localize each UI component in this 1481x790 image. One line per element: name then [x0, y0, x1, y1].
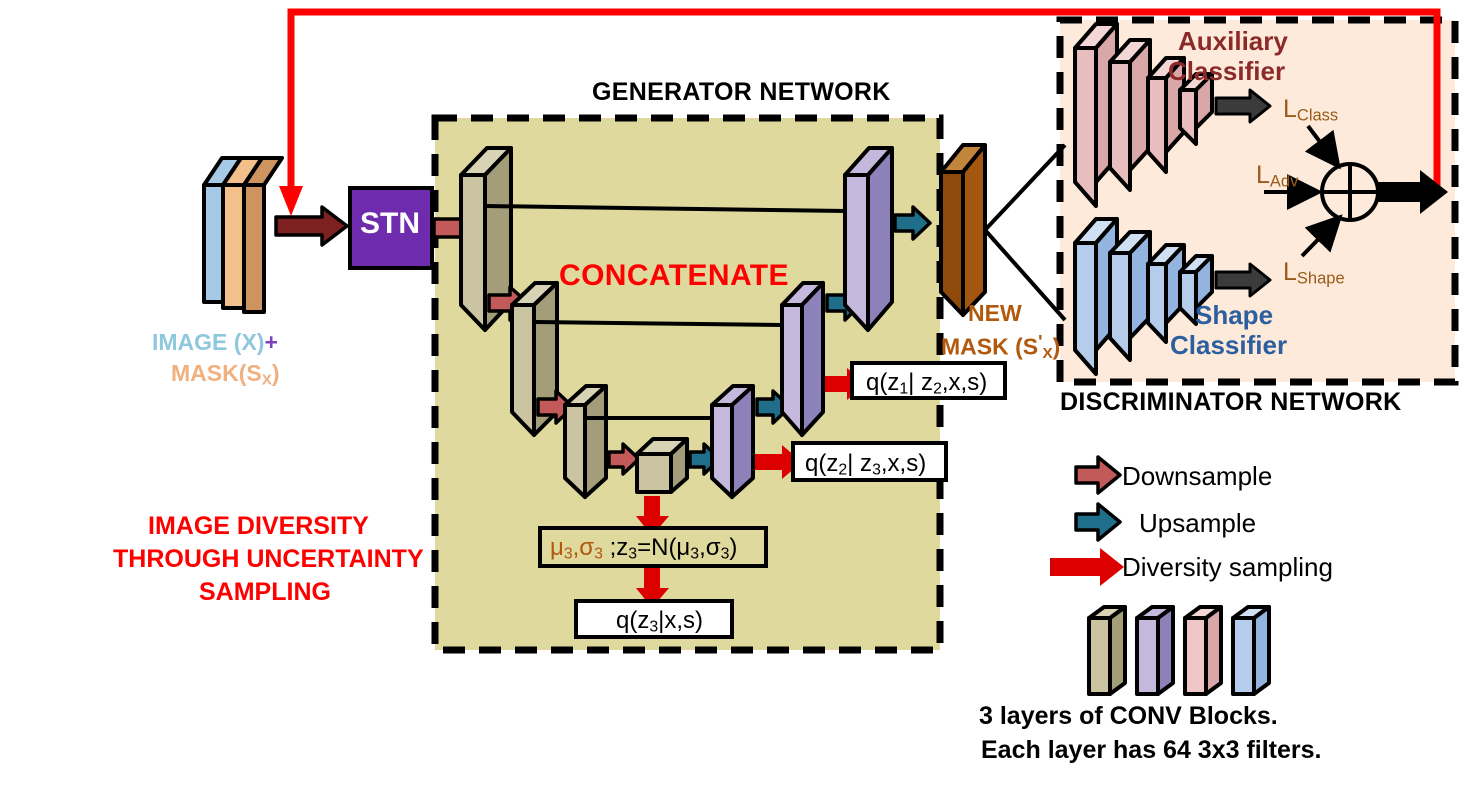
l-shape-main: L: [1283, 258, 1297, 286]
aux-classifier-title-line2: Classifier: [1168, 56, 1285, 87]
new-mask-block: [941, 145, 985, 315]
mask-label-sub: X: [262, 371, 272, 388]
diversity-note-line1: IMAGE DIVERSITY: [148, 512, 369, 541]
diagram-canvas: GENERATOR NETWORK DISCRIMINATOR NETWORK …: [0, 0, 1481, 790]
legend-upsample-arrow: [1076, 504, 1120, 540]
mu-comma: ,σ: [699, 534, 720, 561]
formula-qz3-text: q(z3|x,s): [616, 607, 703, 636]
l-shape-label: LShape: [1283, 258, 1345, 289]
mu-close: ): [729, 534, 737, 561]
mu-mid-sub: 3: [628, 545, 637, 562]
legend-downsample-arrow: [1076, 457, 1120, 493]
new-mask-line2: MASK (S'X): [941, 331, 1060, 362]
l-class-main: L: [1283, 95, 1297, 123]
qz3-tail: |x,s): [658, 607, 703, 634]
l-adv-sub: Adv: [1270, 173, 1298, 191]
input-caption-line1: IMAGE (X)+: [152, 329, 278, 356]
new-mask-line1: NEW: [968, 300, 1022, 327]
new-mask-sub: X: [1043, 345, 1053, 362]
legend-diversity-label: Diversity sampling: [1122, 552, 1333, 583]
qz2-sub1: 2: [838, 461, 847, 478]
encoder-block-3: [565, 386, 606, 497]
mu-b-sub: 3: [594, 545, 603, 562]
discriminator-title: DISCRIMINATOR NETWORK: [1060, 388, 1401, 417]
legend-downsample-label: Downsample: [1122, 461, 1272, 492]
shape-classifier-title-line2: Classifier: [1170, 330, 1287, 361]
shape-classifier-title-line1: Shape: [1195, 300, 1273, 331]
mask-label-close: ): [272, 360, 280, 386]
formula-qz2-text: q(z2| z3,x,s): [805, 450, 926, 479]
legend-conv-blocks: [1089, 607, 1269, 694]
generator-title: GENERATOR NETWORK: [592, 78, 891, 107]
plus-sign: +: [264, 329, 277, 355]
summation-node: [1322, 164, 1378, 220]
bottleneck-cube: [637, 439, 687, 492]
decoder-block-1: [845, 148, 892, 330]
mask-to-discriminator-lines: [985, 145, 1065, 320]
decoder-block-3: [712, 386, 753, 497]
legend-upsample-label: Upsample: [1139, 508, 1256, 539]
mu-eq: =N(μ: [637, 534, 690, 561]
mu-b: ,σ: [573, 534, 594, 561]
diversity-note-line2: THROUGH UNCERTAINTY: [113, 545, 424, 574]
l-adv-main: L: [1256, 161, 1270, 189]
mu-a-sub: 3: [564, 545, 573, 562]
l-class-label: LClass: [1283, 95, 1338, 126]
aux-classifier-title-line1: Auxiliary: [1178, 26, 1288, 57]
mask-label: MASK(S: [171, 360, 262, 386]
input-image-mask-block: [204, 158, 282, 312]
new-mask-close: ): [1053, 333, 1061, 359]
qz2-head: q(z: [805, 450, 838, 477]
legend-conv-line1: 3 layers of CONV Blocks.: [979, 702, 1278, 731]
qz3-sub1: 3: [649, 618, 658, 635]
legend-conv-line2: Each layer has 64 3x3 filters.: [981, 736, 1322, 765]
feedback-arrowhead: [279, 186, 303, 216]
qz1-head: q(z: [866, 369, 899, 396]
decoder-block-2: [782, 283, 823, 435]
input-caption-line2: MASK(SX): [171, 360, 280, 388]
qz3-head: q(z: [616, 607, 649, 634]
mu-a: μ: [550, 534, 564, 561]
concatenate-label: CONCATENATE: [559, 259, 789, 293]
qz2-sub2: 3: [872, 461, 881, 478]
l-class-sub: Class: [1297, 107, 1338, 125]
mu-e1: 3: [690, 545, 699, 562]
l-shape-sub: Shape: [1297, 270, 1345, 288]
qz1-mid: | z: [908, 369, 933, 396]
qz1-tail: ,x,s): [942, 369, 987, 396]
l-adv-label: LAdv: [1256, 161, 1298, 192]
mu-mid: ;z: [603, 534, 628, 561]
qz2-tail: ,x,s): [881, 450, 926, 477]
input-to-stn-arrow: [276, 207, 347, 245]
new-mask-text: MASK (S: [941, 333, 1038, 359]
formula-musigma-text: μ3,σ3 ;z3=N(μ3,σ3): [550, 534, 737, 563]
qz2-mid: | z: [847, 450, 872, 477]
stn-label: STN: [360, 207, 420, 241]
legend-diversity-arrow: [1050, 548, 1124, 586]
diversity-note-line3: SAMPLING: [199, 578, 331, 607]
image-label: IMAGE (X): [152, 329, 264, 355]
qz1-sub2: 2: [933, 380, 942, 397]
formula-qz1-text: q(z1| z2,x,s): [866, 369, 987, 398]
qz1-sub1: 1: [899, 380, 908, 397]
